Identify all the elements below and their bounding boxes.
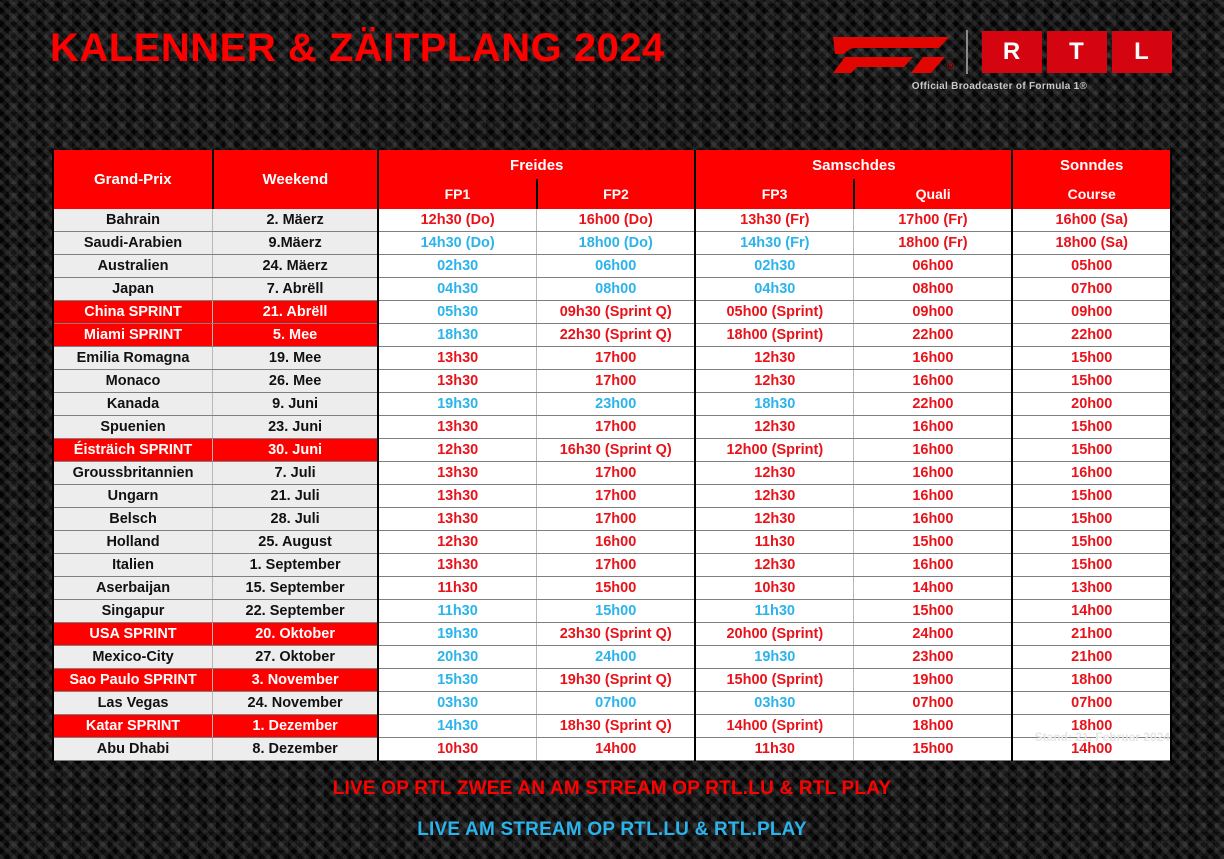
cell-fp3: 13h30 (Fr) xyxy=(695,209,854,232)
page-header: KALENNER & ZÄITPLANG 2024 ® R xyxy=(0,0,1224,130)
cell-fp2: 09h30 (Sprint Q) xyxy=(537,301,696,324)
cell-quali: 15h00 xyxy=(854,600,1013,623)
cell-weekend: 2. Mäerz xyxy=(213,209,379,232)
cell-fp3: 02h30 xyxy=(695,255,854,278)
cell-gp: Saudi-Arabien xyxy=(53,232,213,255)
cell-gp: Spuenien xyxy=(53,416,213,439)
cell-quali: 15h00 xyxy=(854,738,1013,761)
cell-fp1: 11h30 xyxy=(378,577,537,600)
table-row: Éisträich SPRINT30. Juni12h3016h30 (Spri… xyxy=(53,439,1171,462)
cell-quali: 16h00 xyxy=(854,416,1013,439)
cell-fp1: 04h30 xyxy=(378,278,537,301)
schedule-table-container: Grand-Prix Weekend Freides Samschdes Son… xyxy=(52,150,1172,761)
cell-fp3: 11h30 xyxy=(695,738,854,761)
cell-course: 07h00 xyxy=(1012,278,1171,301)
cell-fp1: 12h30 xyxy=(378,439,537,462)
cell-gp: Holland xyxy=(53,531,213,554)
cell-quali: 14h00 xyxy=(854,577,1013,600)
rtl-letter-r: R xyxy=(982,31,1042,73)
table-row: Monaco26. Mee13h3017h0012h3016h0015h00 xyxy=(53,370,1171,393)
col-header-weekend: Weekend xyxy=(213,151,379,209)
table-row: China SPRINT21. Abrëll05h3009h30 (Sprint… xyxy=(53,301,1171,324)
cell-fp2: 17h00 xyxy=(537,370,696,393)
table-row: Aserbaijan15. September11h3015h0010h3014… xyxy=(53,577,1171,600)
cell-weekend: 24. Mäerz xyxy=(213,255,379,278)
cell-fp3: 12h30 xyxy=(695,347,854,370)
cell-fp3: 12h00 (Sprint) xyxy=(695,439,854,462)
cell-fp1: 03h30 xyxy=(378,692,537,715)
cell-course: 22h00 xyxy=(1012,324,1171,347)
cell-fp2: 16h00 xyxy=(537,531,696,554)
table-row: Groussbritannien7. Juli13h3017h0012h3016… xyxy=(53,462,1171,485)
cell-fp1: 13h30 xyxy=(378,462,537,485)
cell-quali: 19h00 xyxy=(854,669,1013,692)
cell-quali: 16h00 xyxy=(854,554,1013,577)
cell-fp2: 06h00 xyxy=(537,255,696,278)
cell-gp: Ungarn xyxy=(53,485,213,508)
table-row: Las Vegas24. November03h3007h0003h3007h0… xyxy=(53,692,1171,715)
cell-fp3: 11h30 xyxy=(695,600,854,623)
cell-fp3: 12h30 xyxy=(695,554,854,577)
cell-fp1: 13h30 xyxy=(378,416,537,439)
cell-course: 15h00 xyxy=(1012,485,1171,508)
cell-fp3: 12h30 xyxy=(695,508,854,531)
cell-weekend: 21. Abrëll xyxy=(213,301,379,324)
cell-gp: Miami SPRINT xyxy=(53,324,213,347)
table-row: Katar SPRINT1. Dezember14h3018h30 (Sprin… xyxy=(53,715,1171,738)
table-row: USA SPRINT20. Oktober19h3023h30 (Sprint … xyxy=(53,623,1171,646)
cell-fp2: 15h00 xyxy=(537,577,696,600)
table-row: Mexico-City27. Oktober20h3024h0019h3023h… xyxy=(53,646,1171,669)
cell-fp1: 13h30 xyxy=(378,370,537,393)
cell-quali: 08h00 xyxy=(854,278,1013,301)
cell-fp3: 12h30 xyxy=(695,416,854,439)
cell-fp1: 02h30 xyxy=(378,255,537,278)
last-updated-label: Stand: 21. Februar 2024 xyxy=(1035,730,1170,744)
cell-weekend: 1. Dezember xyxy=(213,715,379,738)
cell-fp1: 18h30 xyxy=(378,324,537,347)
cell-gp: Monaco xyxy=(53,370,213,393)
table-row: Sao Paulo SPRINT3. November15h3019h30 (S… xyxy=(53,669,1171,692)
cell-fp1: 13h30 xyxy=(378,347,537,370)
cell-fp3: 10h30 xyxy=(695,577,854,600)
cell-course: 15h00 xyxy=(1012,370,1171,393)
cell-fp1: 13h30 xyxy=(378,554,537,577)
cell-fp2: 18h30 (Sprint Q) xyxy=(537,715,696,738)
cell-fp3: 20h00 (Sprint) xyxy=(695,623,854,646)
cell-quali: 23h00 xyxy=(854,646,1013,669)
col-header-fp3: FP3 xyxy=(695,180,854,209)
cell-weekend: 7. Juli xyxy=(213,462,379,485)
cell-fp2: 22h30 (Sprint Q) xyxy=(537,324,696,347)
cell-fp3: 19h30 xyxy=(695,646,854,669)
cell-course: 15h00 xyxy=(1012,347,1171,370)
cell-weekend: 21. Juli xyxy=(213,485,379,508)
cell-fp1: 14h30 xyxy=(378,715,537,738)
cell-course: 15h00 xyxy=(1012,416,1171,439)
header-row-groups: Grand-Prix Weekend Freides Samschdes Son… xyxy=(53,151,1171,180)
registered-mark: ® xyxy=(947,61,954,71)
col-header-fp2: FP2 xyxy=(537,180,696,209)
cell-course: 15h00 xyxy=(1012,439,1171,462)
cell-fp3: 18h00 (Sprint) xyxy=(695,324,854,347)
cell-gp: Katar SPRINT xyxy=(53,715,213,738)
cell-fp2: 15h00 xyxy=(537,600,696,623)
f1-logo-icon: ® xyxy=(827,31,952,73)
page-root: KALENNER & ZÄITPLANG 2024 ® R xyxy=(0,0,1224,859)
cell-quali: 09h00 xyxy=(854,301,1013,324)
cell-fp3: 15h00 (Sprint) xyxy=(695,669,854,692)
cell-fp3: 12h30 xyxy=(695,370,854,393)
table-row: Saudi-Arabien9.Mäerz14h30 (Do)18h00 (Do)… xyxy=(53,232,1171,255)
cell-course: 13h00 xyxy=(1012,577,1171,600)
cell-gp: Australien xyxy=(53,255,213,278)
cell-gp: Bahrain xyxy=(53,209,213,232)
cell-fp3: 12h30 xyxy=(695,462,854,485)
cell-weekend: 3. November xyxy=(213,669,379,692)
cell-course: 07h00 xyxy=(1012,692,1171,715)
cell-weekend: 30. Juni xyxy=(213,439,379,462)
cell-fp2: 08h00 xyxy=(537,278,696,301)
cell-fp2: 23h00 xyxy=(537,393,696,416)
cell-fp1: 12h30 xyxy=(378,531,537,554)
table-row: Belsch28. Juli13h3017h0012h3016h0015h00 xyxy=(53,508,1171,531)
cell-weekend: 19. Mee xyxy=(213,347,379,370)
cell-fp3: 04h30 xyxy=(695,278,854,301)
cell-quali: 18h00 (Fr) xyxy=(854,232,1013,255)
cell-quali: 16h00 xyxy=(854,347,1013,370)
cell-quali: 16h00 xyxy=(854,508,1013,531)
cell-gp: USA SPRINT xyxy=(53,623,213,646)
cell-weekend: 22. September xyxy=(213,600,379,623)
table-row: Abu Dhabi8. Dezember10h3014h0011h3015h00… xyxy=(53,738,1171,761)
cell-fp1: 19h30 xyxy=(378,393,537,416)
cell-course: 15h00 xyxy=(1012,531,1171,554)
cell-fp1: 13h30 xyxy=(378,485,537,508)
col-header-grand-prix: Grand-Prix xyxy=(53,151,213,209)
table-body: Bahrain2. Mäerz12h30 (Do)16h00 (Do)13h30… xyxy=(53,209,1171,761)
cell-course: 20h00 xyxy=(1012,393,1171,416)
broadcaster-tagline: Official Broadcaster of Formula 1® xyxy=(912,81,1087,92)
cell-fp1: 05h30 xyxy=(378,301,537,324)
cell-fp1: 14h30 (Do) xyxy=(378,232,537,255)
cell-quali: 24h00 xyxy=(854,623,1013,646)
cell-weekend: 20. Oktober xyxy=(213,623,379,646)
cell-weekend: 28. Juli xyxy=(213,508,379,531)
col-header-fp1: FP1 xyxy=(378,180,537,209)
cell-gp: China SPRINT xyxy=(53,301,213,324)
cell-fp1: 19h30 xyxy=(378,623,537,646)
cell-weekend: 9.Mäerz xyxy=(213,232,379,255)
table-head: Grand-Prix Weekend Freides Samschdes Son… xyxy=(53,151,1171,209)
cell-fp2: 19h30 (Sprint Q) xyxy=(537,669,696,692)
col-header-quali: Quali xyxy=(854,180,1013,209)
cell-fp2: 24h00 xyxy=(537,646,696,669)
cell-fp2: 17h00 xyxy=(537,485,696,508)
cell-weekend: 26. Mee xyxy=(213,370,379,393)
cell-fp2: 17h00 xyxy=(537,508,696,531)
cell-gp: Italien xyxy=(53,554,213,577)
cell-fp2: 17h00 xyxy=(537,554,696,577)
table-row: Miami SPRINT5. Mee18h3022h30 (Sprint Q)1… xyxy=(53,324,1171,347)
cell-course: 15h00 xyxy=(1012,554,1171,577)
cell-quali: 06h00 xyxy=(854,255,1013,278)
col-group-sunday: Sonndes xyxy=(1012,151,1171,180)
cell-fp3: 12h30 xyxy=(695,485,854,508)
broadcaster-logos: ® R T L Official Broadcaster of Formula … xyxy=(827,30,1172,92)
cell-gp: Abu Dhabi xyxy=(53,738,213,761)
cell-gp: Belsch xyxy=(53,508,213,531)
logo-row: ® R T L xyxy=(827,30,1172,74)
cell-quali: 18h00 xyxy=(854,715,1013,738)
cell-gp: Sao Paulo SPRINT xyxy=(53,669,213,692)
rtl-logo: R T L xyxy=(982,31,1172,73)
cell-fp3: 14h00 (Sprint) xyxy=(695,715,854,738)
cell-fp3: 14h30 (Fr) xyxy=(695,232,854,255)
cell-weekend: 24. November xyxy=(213,692,379,715)
cell-quali: 22h00 xyxy=(854,393,1013,416)
cell-fp2: 16h30 (Sprint Q) xyxy=(537,439,696,462)
cell-fp1: 10h30 xyxy=(378,738,537,761)
cell-weekend: 8. Dezember xyxy=(213,738,379,761)
cell-weekend: 23. Juni xyxy=(213,416,379,439)
cell-course: 09h00 xyxy=(1012,301,1171,324)
cell-quali: 22h00 xyxy=(854,324,1013,347)
cell-course: 16h00 (Sa) xyxy=(1012,209,1171,232)
table-row: Ungarn21. Juli13h3017h0012h3016h0015h00 xyxy=(53,485,1171,508)
cell-gp: Las Vegas xyxy=(53,692,213,715)
cell-fp2: 18h00 (Do) xyxy=(537,232,696,255)
cell-course: 18h00 (Sa) xyxy=(1012,232,1171,255)
table-row: Italien1. September13h3017h0012h3016h001… xyxy=(53,554,1171,577)
table-row: Emilia Romagna19. Mee13h3017h0012h3016h0… xyxy=(53,347,1171,370)
col-header-course: Course xyxy=(1012,180,1171,209)
cell-fp2: 14h00 xyxy=(537,738,696,761)
rtl-letter-l: L xyxy=(1112,31,1172,73)
cell-course: 05h00 xyxy=(1012,255,1171,278)
cell-gp: Kanada xyxy=(53,393,213,416)
cell-gp: Aserbaijan xyxy=(53,577,213,600)
table-row: Spuenien23. Juni13h3017h0012h3016h0015h0… xyxy=(53,416,1171,439)
table-row: Kanada9. Juni19h3023h0018h3022h0020h00 xyxy=(53,393,1171,416)
cell-gp: Emilia Romagna xyxy=(53,347,213,370)
cell-gp: Groussbritannien xyxy=(53,462,213,485)
cell-fp3: 18h30 xyxy=(695,393,854,416)
cell-fp1: 11h30 xyxy=(378,600,537,623)
cell-quali: 16h00 xyxy=(854,462,1013,485)
cell-fp2: 16h00 (Do) xyxy=(537,209,696,232)
cell-course: 15h00 xyxy=(1012,508,1171,531)
page-title: KALENNER & ZÄITPLANG 2024 xyxy=(50,26,665,71)
rtl-letter-t: T xyxy=(1047,31,1107,73)
footer-line-stream: LIVE AM STREAM OP RTL.LU & RTL.PLAY xyxy=(0,819,1224,841)
table-row: Singapur22. September11h3015h0011h3015h0… xyxy=(53,600,1171,623)
cell-fp2: 23h30 (Sprint Q) xyxy=(537,623,696,646)
cell-fp2: 17h00 xyxy=(537,416,696,439)
cell-gp: Mexico-City xyxy=(53,646,213,669)
cell-weekend: 9. Juni xyxy=(213,393,379,416)
cell-fp3: 03h30 xyxy=(695,692,854,715)
cell-gp: Japan xyxy=(53,278,213,301)
cell-weekend: 7. Abrëll xyxy=(213,278,379,301)
cell-fp3: 05h00 (Sprint) xyxy=(695,301,854,324)
cell-weekend: 25. August xyxy=(213,531,379,554)
cell-course: 21h00 xyxy=(1012,623,1171,646)
cell-fp2: 07h00 xyxy=(537,692,696,715)
footer-line-rtl-zwee: LIVE OP RTL ZWEE AN AM STREAM OP RTL.LU … xyxy=(0,778,1224,800)
cell-course: 16h00 xyxy=(1012,462,1171,485)
cell-gp: Singapur xyxy=(53,600,213,623)
cell-course: 14h00 xyxy=(1012,600,1171,623)
cell-quali: 16h00 xyxy=(854,439,1013,462)
cell-weekend: 15. September xyxy=(213,577,379,600)
cell-quali: 17h00 (Fr) xyxy=(854,209,1013,232)
cell-weekend: 5. Mee xyxy=(213,324,379,347)
cell-course: 18h00 xyxy=(1012,669,1171,692)
table-row: Australien24. Mäerz02h3006h0002h3006h000… xyxy=(53,255,1171,278)
cell-quali: 16h00 xyxy=(854,485,1013,508)
table-row: Japan7. Abrëll04h3008h0004h3008h0007h00 xyxy=(53,278,1171,301)
col-group-saturday: Samschdes xyxy=(695,151,1012,180)
cell-weekend: 1. September xyxy=(213,554,379,577)
cell-quali: 07h00 xyxy=(854,692,1013,715)
table-row: Bahrain2. Mäerz12h30 (Do)16h00 (Do)13h30… xyxy=(53,209,1171,232)
cell-quali: 15h00 xyxy=(854,531,1013,554)
logo-divider xyxy=(966,30,968,74)
cell-fp1: 12h30 (Do) xyxy=(378,209,537,232)
cell-weekend: 27. Oktober xyxy=(213,646,379,669)
cell-fp2: 17h00 xyxy=(537,462,696,485)
cell-course: 21h00 xyxy=(1012,646,1171,669)
cell-fp1: 15h30 xyxy=(378,669,537,692)
cell-gp: Éisträich SPRINT xyxy=(53,439,213,462)
cell-fp1: 20h30 xyxy=(378,646,537,669)
cell-quali: 16h00 xyxy=(854,370,1013,393)
cell-fp2: 17h00 xyxy=(537,347,696,370)
cell-fp3: 11h30 xyxy=(695,531,854,554)
cell-fp1: 13h30 xyxy=(378,508,537,531)
schedule-table: Grand-Prix Weekend Freides Samschdes Son… xyxy=(52,150,1172,761)
col-group-friday: Freides xyxy=(378,151,695,180)
table-row: Holland25. August12h3016h0011h3015h0015h… xyxy=(53,531,1171,554)
